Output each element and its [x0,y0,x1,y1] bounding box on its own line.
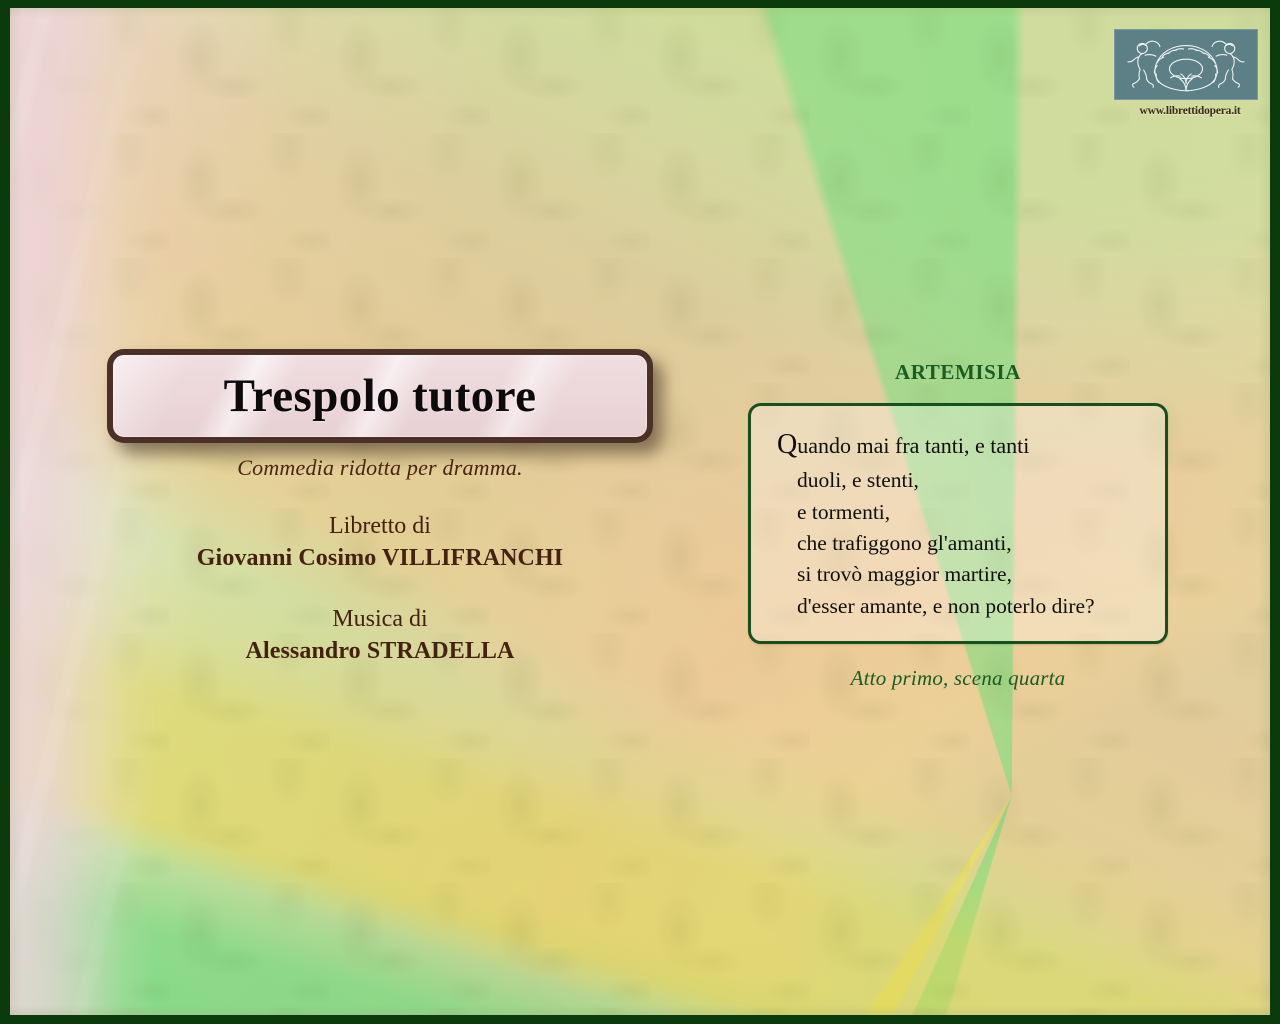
libretto-role-label: Libretto di [107,511,653,543]
speaker-name: ARTEMISIA [748,360,1168,385]
credits-block: Commedia ridotta per dramma. Libretto di… [107,455,653,668]
quotation-block: ARTEMISIA Quando mai fra tanti, e tantid… [748,360,1168,691]
logo-caption: www.librettidopera.it [1114,105,1266,117]
libretto-author-name: Giovanni Cosimo VILLIFRANCHI [107,543,653,575]
music-credit: Musica di Alessandro STRADELLA [107,604,653,667]
quotation-line: si trovò maggior martire, [777,559,1147,590]
music-role-label: Musica di [107,604,653,636]
quotation-lines: Quando mai fra tanti, e tantiduoli, e st… [777,424,1147,622]
page-title: Trespolo tutore [224,373,537,420]
quotation-line: che trafiggono gl'amanti, [777,528,1147,559]
publisher-logo[interactable]: www.librettidopera.it [1114,29,1266,117]
quotation-line: Quando mai fra tanti, e tanti [777,424,1147,465]
quotation-line: e tormenti, [777,497,1147,528]
subtitle: Commedia ridotta per dramma. [107,455,653,481]
putti-laurel-wreath-icon [1114,29,1258,100]
scene-reference: Atto primo, scena quarta [748,666,1168,691]
cover-canvas: www.librettidopera.it Trespolo tutore Co… [10,8,1270,1015]
quotation-line: duoli, e stenti, [777,465,1147,496]
title-plaque: Trespolo tutore [107,349,653,443]
libretto-cover-page: www.librettidopera.it Trespolo tutore Co… [0,0,1280,1024]
quotation-box: Quando mai fra tanti, e tantiduoli, e st… [748,403,1168,644]
music-author-name: Alessandro STRADELLA [107,636,653,668]
libretto-credit: Libretto di Giovanni Cosimo VILLIFRANCHI [107,511,653,574]
quotation-line: d'esser amante, e non poterlo dire? [777,591,1147,622]
